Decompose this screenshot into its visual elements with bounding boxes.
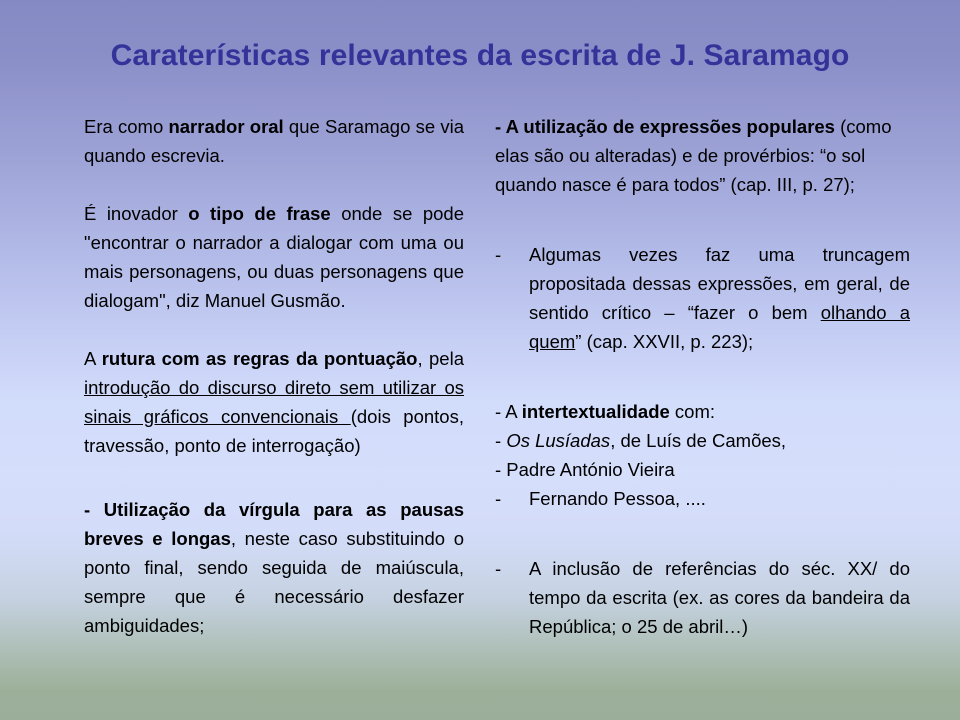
right-p4-run1: - <box>495 430 506 451</box>
right-paragraph-2: -Algumas vezes faz uma truncagem proposi… <box>495 240 910 356</box>
left-p3-run3: , pela <box>417 348 464 369</box>
left-spacer-1 <box>84 170 464 199</box>
right-paragraph-4: - Os Lusíadas, de Luís de Camões, <box>495 426 910 455</box>
right-spacer-1 <box>495 199 910 240</box>
right-spacer-2 <box>495 356 910 397</box>
right-p3-run1: - A <box>495 401 522 422</box>
left-p1-run2-bold: narrador oral <box>168 116 283 137</box>
left-paragraph-4: - Utilização da vírgula para as pausas b… <box>84 495 464 640</box>
right-paragraph-3: - A intertextualidade com: <box>495 397 910 426</box>
right-p3-run3: com: <box>670 401 715 422</box>
right-text-column: - A utilização de expressões populares (… <box>495 112 910 641</box>
right-p2-dash: - <box>495 240 529 269</box>
left-text-column: Era como narrador oral que Saramago se v… <box>84 112 464 640</box>
left-p2-run2-bold: o tipo de frase <box>188 203 330 224</box>
left-paragraph-2: É inovador o tipo de frase onde se pode … <box>84 199 464 315</box>
left-p2-run1: É inovador <box>84 203 188 224</box>
right-paragraph-5: - Padre António Vieira <box>495 455 910 484</box>
right-p4-run3: , de Luís de Camões, <box>610 430 786 451</box>
right-p7-text: A inclusão de referências do séc. XX/ do… <box>529 558 910 637</box>
left-spacer-2 <box>84 315 464 344</box>
right-p4-run2-italic: Os Lusíadas <box>506 430 610 451</box>
right-p7-dash: - <box>495 554 529 583</box>
right-spacer-3 <box>495 513 910 554</box>
right-p1-run1-bold: - A utilização de expressões populares <box>495 116 835 137</box>
left-p1-run1: Era como <box>84 116 168 137</box>
slide-canvas: Caraterísticas relevantes da escrita de … <box>0 0 960 720</box>
right-p6-dash: - <box>495 484 529 513</box>
right-p2-run3: ” (cap. XXVII, p. 223); <box>575 331 753 352</box>
right-paragraph-7: -A inclusão de referências do séc. XX/ d… <box>495 554 910 641</box>
left-p3-run1: A <box>84 348 102 369</box>
left-p3-run2-bold: rutura com as regras da pontuação <box>102 348 418 369</box>
left-spacer-3 <box>84 460 464 495</box>
right-p6-text: Fernando Pessoa, .... <box>529 488 706 509</box>
left-paragraph-3: A rutura com as regras da pontuação, pel… <box>84 344 464 460</box>
page-title: Caraterísticas relevantes da escrita de … <box>0 39 960 73</box>
right-paragraph-6: -Fernando Pessoa, .... <box>495 484 910 513</box>
right-paragraph-1: - A utilização de expressões populares (… <box>495 112 910 199</box>
right-p3-run2-bold: intertextualidade <box>522 401 670 422</box>
left-paragraph-1: Era como narrador oral que Saramago se v… <box>84 112 464 170</box>
